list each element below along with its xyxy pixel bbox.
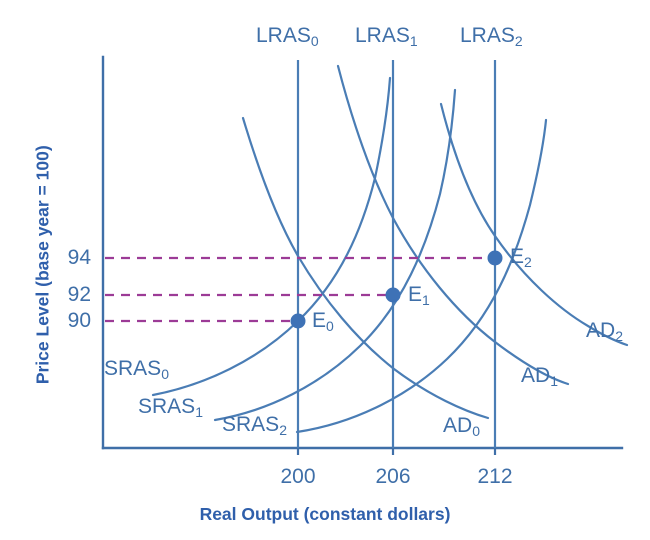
ad-0-curve xyxy=(243,118,488,418)
lras-0-label: LRAS0 xyxy=(256,25,319,46)
equilibrium-label-e0: E0 xyxy=(312,310,334,331)
equilibrium-label-e2: E2 xyxy=(510,246,532,267)
x-tick-label-212: 212 xyxy=(470,466,520,487)
y-tick-label-92: 92 xyxy=(61,284,91,305)
ad-1-label: AD1 xyxy=(521,365,558,386)
ad-0-label: AD0 xyxy=(443,415,480,436)
y-tick-label-94: 94 xyxy=(61,247,91,268)
x-tick-label-200: 200 xyxy=(273,466,323,487)
sras-1-label: SRAS1 xyxy=(138,396,203,417)
sras-0-label: SRAS0 xyxy=(104,358,169,379)
ad-2-label: AD2 xyxy=(586,320,623,341)
equilibrium-label-e1: E1 xyxy=(408,284,430,305)
equilibrium-dot-e1[interactable] xyxy=(386,288,401,303)
ad-as-diagram-figure: LRAS0 LRAS1 LRAS2 SRAS0 SRAS1 SRAS2 AD0 … xyxy=(0,0,650,540)
sras-2-label: SRAS2 xyxy=(222,414,287,435)
ad-2-curve xyxy=(441,104,627,345)
equilibrium-dot-e0[interactable] xyxy=(291,314,306,329)
chart-canvas xyxy=(0,0,650,540)
lras-2-label: LRAS2 xyxy=(460,25,523,46)
sras-1-curve xyxy=(215,90,455,420)
x-axis-title: Real Output (constant dollars) xyxy=(0,506,650,524)
y-tick-label-90: 90 xyxy=(61,310,91,331)
lras-1-label: LRAS1 xyxy=(355,25,418,46)
x-tick-label-206: 206 xyxy=(368,466,418,487)
y-axis-title: Price Level (base year = 100) xyxy=(34,100,52,430)
equilibrium-dot-e2[interactable] xyxy=(488,251,503,266)
